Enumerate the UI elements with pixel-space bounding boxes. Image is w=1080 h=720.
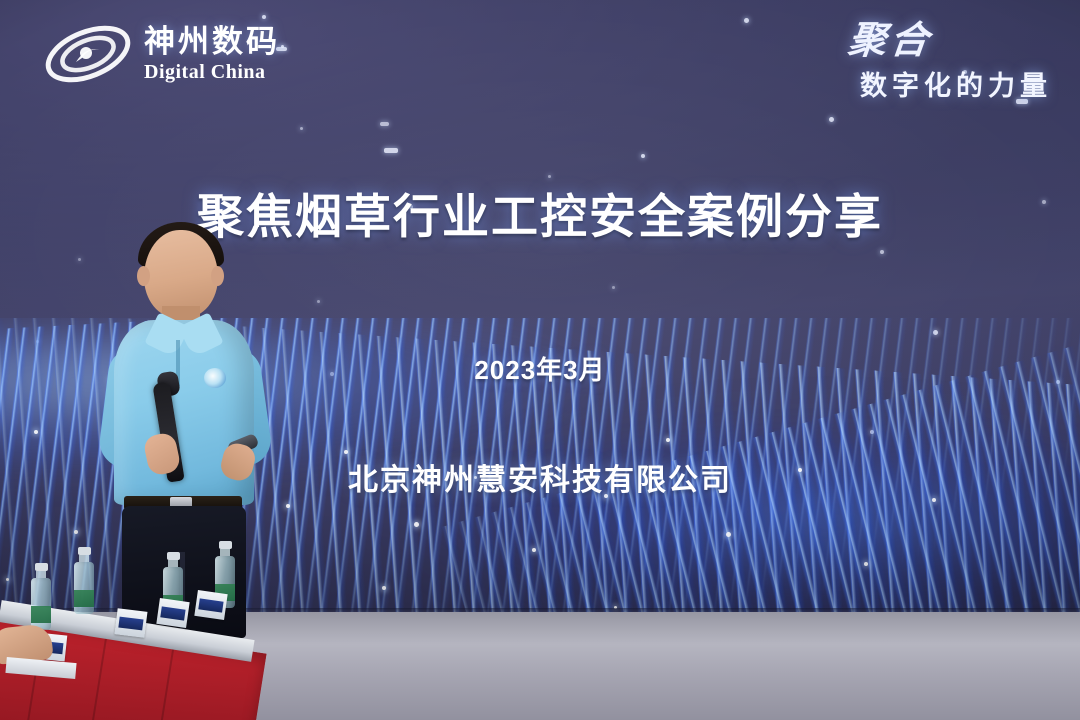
water-bottle (31, 563, 51, 630)
name-card (156, 598, 189, 628)
event-slogan: 聚合 数字化的力量 (848, 22, 1052, 103)
name-card (115, 608, 148, 637)
brand-name-cn: 神州数码 (144, 26, 280, 57)
slogan-subtitle: 数字化的力量 (848, 64, 1052, 103)
brand-logo: 神州数码 Digital China (42, 18, 280, 90)
shirt-chest-logo-icon (204, 368, 226, 388)
water-bottle (74, 547, 94, 614)
brand-name-en: Digital China (144, 62, 280, 82)
speaker-ear-left (137, 266, 150, 286)
speaker-ear-right (211, 266, 224, 286)
slogan-calligraphy: 聚合 (846, 22, 934, 62)
name-card (194, 590, 227, 620)
conference-stage-photo: 神州数码 Digital China 聚合 数字化的力量 聚焦烟草行业工控安全案… (0, 0, 1080, 720)
speaker-head (144, 230, 218, 318)
swirl-galaxy-icon (42, 18, 134, 90)
